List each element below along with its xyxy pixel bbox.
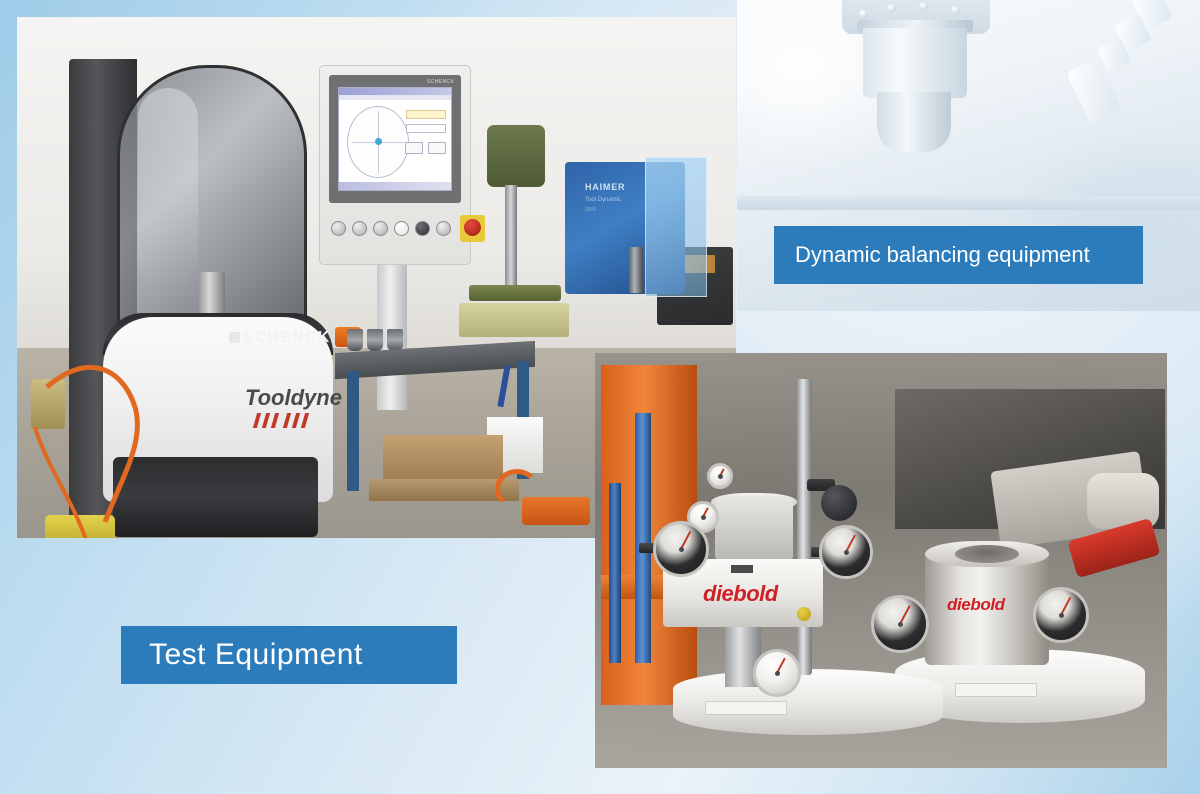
- diebold-head-badge: [731, 565, 753, 573]
- orange-clamp: [522, 497, 590, 525]
- diebold-cylinder-bore: [955, 545, 1019, 563]
- spindle-bolt-1: [859, 10, 868, 19]
- orange-hose: [27, 347, 157, 538]
- caption-dynamic-balancing-equipment: Dynamic balancing equipment: [774, 226, 1143, 284]
- screen-button-2: [428, 142, 446, 154]
- diebold-cylinder-brand-label: diebold: [947, 595, 1005, 615]
- haimer-glass-cover: [645, 157, 707, 297]
- base-plate-label-left: [705, 701, 787, 715]
- dial-indicator-3: [871, 595, 929, 653]
- screen-button-1: [405, 142, 423, 154]
- schenck-brand-text: SCHENCK: [243, 329, 331, 346]
- spindle-bolt-2: [887, 4, 896, 13]
- haimer-brand-label: HAIMER: [585, 182, 625, 192]
- caption-test-equipment: Test Equipment: [121, 626, 457, 684]
- drill-press-head: [487, 125, 545, 187]
- tooldyne-brand-label: Tooldyne: [245, 385, 342, 411]
- base-plate-label-right: [955, 683, 1037, 697]
- screen-toolbar: [339, 95, 451, 100]
- tooldyne-brand-bars: [255, 413, 325, 429]
- screen-polar-marker: [375, 138, 382, 145]
- emergency-stop-button: [460, 215, 485, 242]
- adjust-knob: [821, 485, 857, 521]
- drill-press-quill: [505, 185, 517, 285]
- dial-indicator-micro-top: [707, 463, 733, 489]
- spindle-bolt-3: [919, 2, 928, 11]
- schenck-brand-label: SCHENCK: [229, 329, 331, 347]
- diebold-head-seal: [797, 607, 811, 621]
- spindle-nose: [877, 92, 951, 152]
- haimer-model-number-label: 2009: [585, 207, 596, 213]
- blue-pipe-1: [635, 413, 651, 663]
- screen-title-bar: [339, 88, 451, 95]
- cnc-panel-logo: SCHENCK: [427, 79, 454, 85]
- wooden-crate: [383, 435, 503, 483]
- haimer-model-label: Tool Dynamic: [585, 197, 621, 203]
- haimer-tool-holder: [629, 247, 643, 293]
- dial-indicator-4: [1033, 587, 1089, 643]
- drill-press-table: [469, 285, 561, 301]
- screen-value-field-1: [406, 110, 446, 119]
- presetter-vertical-column: [797, 379, 812, 675]
- dial-indicator-5: [753, 649, 801, 697]
- blue-pipe-2: [609, 483, 621, 663]
- coolant-nozzle: [1067, 0, 1187, 127]
- cnc-panel-button-row: [331, 219, 463, 241]
- screen-status-bar: [339, 182, 451, 190]
- tool-chuck: [715, 499, 793, 561]
- drill-press-base: [459, 303, 569, 337]
- dial-indicator-2: [819, 525, 873, 579]
- diebold-head-brand-label: diebold: [703, 581, 778, 607]
- machine-shelf-edge: [737, 196, 1200, 210]
- cnc-monitor-screen: [338, 87, 452, 191]
- spindle-body: [863, 28, 967, 98]
- spindle-bolt-4: [951, 6, 960, 15]
- dial-indicator-1: [653, 521, 709, 577]
- screen-value-field-2: [406, 124, 446, 133]
- diebold-presetter-photo: diebold diebold: [595, 353, 1167, 768]
- workbench-leg-left: [347, 371, 359, 491]
- slide-background: HAIMER Tool Dynamic 2009 SCHENCK Tooldyn…: [0, 0, 1200, 794]
